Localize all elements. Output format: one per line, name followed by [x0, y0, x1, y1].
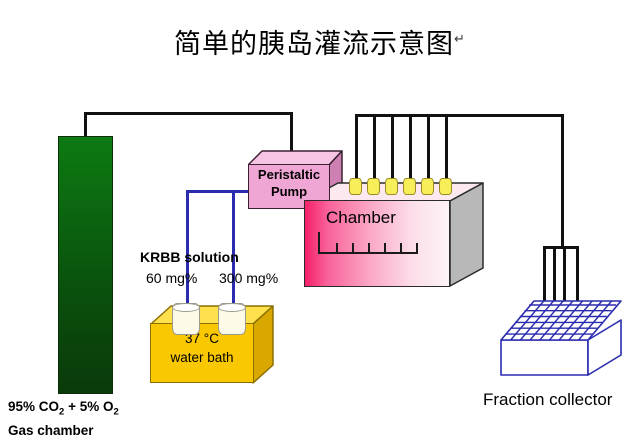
perfusate-tube-2 — [373, 114, 376, 178]
ruler-tick-6 — [416, 243, 418, 253]
perfusate-tube-6 — [445, 114, 448, 178]
gas-composition-text: 95% CO2 + 5% O2 — [8, 398, 119, 422]
krbb-solution-label: KRBB solution — [140, 249, 239, 265]
diagram-canvas: 简单的胰岛灌流示意图↵ 95% CO2 + 5% O2 Gas chamber … — [0, 0, 640, 445]
krbb-concentration-high: 300 mg% — [219, 270, 278, 286]
ruler-tick-1 — [336, 243, 338, 253]
fraction-collector — [500, 285, 622, 380]
gas-tube-riser — [84, 112, 87, 138]
islet-vial-2 — [367, 178, 380, 195]
perfusate-manifold-bar — [355, 114, 564, 117]
collector-feed-downleg — [561, 114, 564, 248]
ruler-origin-tick — [318, 232, 320, 254]
gas-tube-horizontal — [84, 112, 293, 115]
ruler-tick-2 — [352, 243, 354, 253]
islet-vial-4 — [403, 178, 416, 195]
fraction-collector-label: Fraction collector — [483, 390, 612, 410]
ruler-tick-4 — [384, 243, 386, 253]
islet-vial-5 — [421, 178, 434, 195]
perfusate-tube-4 — [409, 114, 412, 178]
title-text: 简单的胰岛灌流示意图 — [174, 29, 454, 59]
pilcrow-mark: ↵ — [454, 31, 466, 46]
krbb-reservoir-low — [172, 303, 200, 335]
krbb-reservoir-high — [218, 303, 246, 335]
ruler-tick-3 — [368, 243, 370, 253]
page-title: 简单的胰岛灌流示意图↵ — [0, 22, 640, 61]
bath-name: water bath — [150, 348, 254, 367]
chamber-ruler — [304, 182, 450, 269]
islet-vial-3 — [385, 178, 398, 195]
gas-tube-downleg — [290, 112, 293, 154]
perfusate-tube-1 — [355, 114, 358, 178]
perfusate-tube-3 — [391, 114, 394, 178]
ruler-tick-5 — [400, 243, 402, 253]
pump-label-line1: Peristaltic — [248, 166, 330, 183]
perfusion-chamber: Chamber — [304, 182, 484, 287]
collector-rack — [500, 285, 622, 380]
krbb-concentration-low: 60 mg% — [146, 270, 197, 286]
perfusate-tube-5 — [427, 114, 430, 178]
gas-chamber-label: 95% CO2 + 5% O2 Gas chamber — [8, 398, 119, 440]
water-bath: 37 °C water bath — [150, 305, 274, 385]
islet-vial-1 — [349, 178, 362, 195]
islet-vial-6 — [439, 178, 452, 195]
gas-chamber-vessel — [58, 136, 113, 394]
gas-chamber-name: Gas chamber — [8, 422, 119, 440]
collector-feed-splitter — [543, 246, 579, 249]
